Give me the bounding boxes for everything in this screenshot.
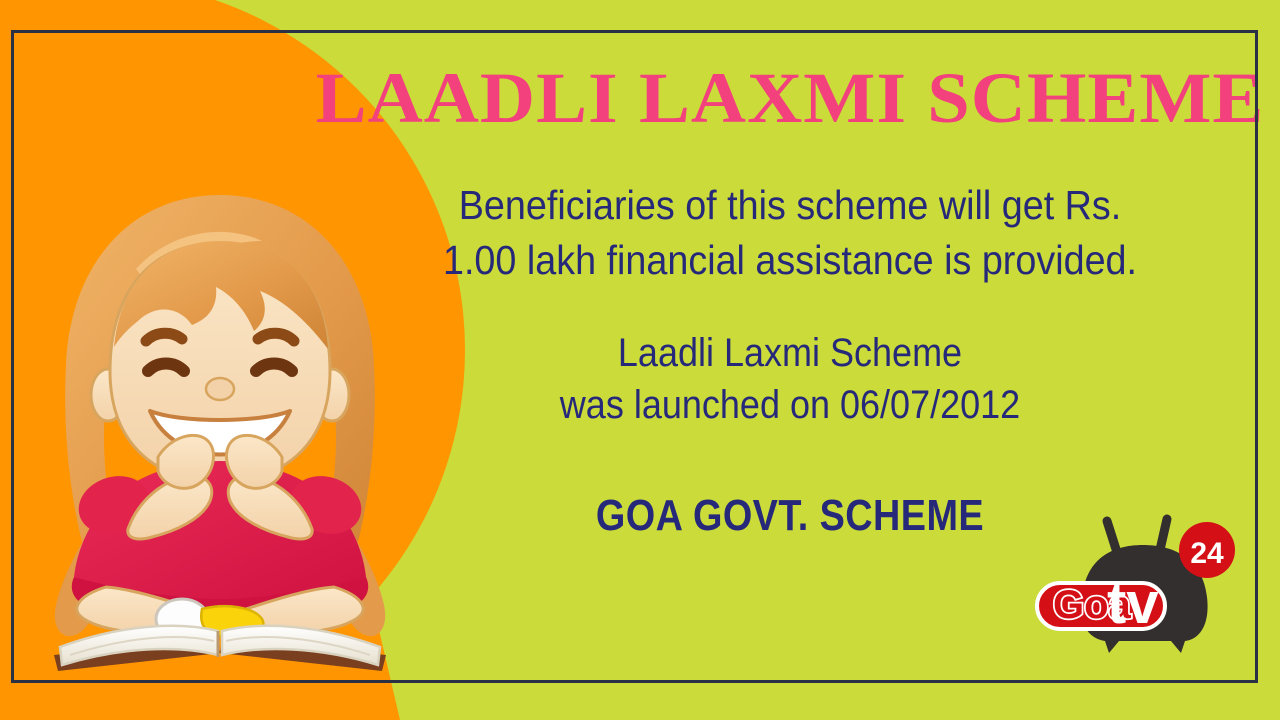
benefit-line-2: 1.00 lakh financial assistance is provid…	[376, 233, 1204, 288]
scheme-launch-text: Laadli Laxmi Scheme was launched on 06/0…	[385, 327, 1195, 431]
badge-24: 24	[1179, 522, 1235, 578]
launch-line-1: Laadli Laxmi Scheme	[385, 327, 1195, 379]
logo-badge-number: 24	[1190, 537, 1224, 570]
launch-line-2: was launched on 06/07/2012	[385, 379, 1195, 431]
poster-canvas: LAADLI LAXMI SCHEME Beneficiaries of thi…	[0, 0, 1280, 720]
benefit-line-1: Beneficiaries of this scheme will get Rs…	[376, 178, 1204, 233]
scheme-benefit-text: Beneficiaries of this scheme will get Rs…	[376, 178, 1204, 289]
page-title: LAADLI LAXMI SCHEME	[313, 62, 1267, 134]
logo-tv-text: tv	[1107, 571, 1159, 636]
goatv24-logo[interactable]: Goa tv 24	[1035, 505, 1250, 655]
